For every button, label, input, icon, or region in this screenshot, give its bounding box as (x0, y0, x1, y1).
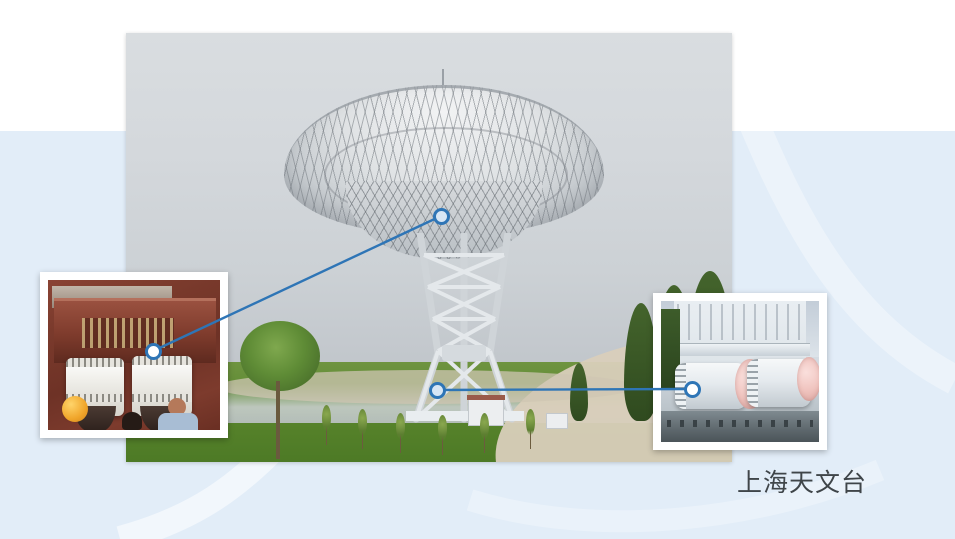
photo-equipment-shed (546, 413, 568, 429)
inset-left-drive-1-bolt-ring (66, 358, 124, 367)
photo-sapling-4 (438, 415, 447, 441)
inset-right-structure-ribs (677, 304, 803, 341)
inset-photo-left-maintenance[interactable] (40, 272, 228, 438)
caption-observatory-name: 上海天文台 (737, 468, 867, 498)
inset-right-flange-2 (797, 357, 819, 401)
photo-sapling-6 (526, 409, 535, 435)
photo-sapling-5 (480, 413, 489, 439)
inset-left-worker (158, 398, 198, 430)
slide-canvas: 上海天文台 (0, 0, 955, 539)
inset-left-orange-helmet (62, 396, 88, 422)
inset-left-worker-head-dark (122, 412, 142, 430)
inset-left-worker-body (158, 413, 198, 430)
telescope-dish (284, 85, 604, 255)
inset-right-drive-2-bolt-ring (747, 359, 758, 407)
photo-sapling-3 (396, 413, 405, 439)
inset-left-gear-rack (82, 318, 174, 348)
inset-left-body (48, 280, 220, 430)
inset-right-base-bolts (667, 420, 812, 427)
inset-left-drive-2-bolt-ring (132, 356, 192, 365)
photo-sapling-1 (322, 405, 331, 431)
inset-right-drive-1-bolt-ring (675, 363, 686, 409)
inset-photo-right-installed[interactable] (653, 293, 827, 450)
inset-right-rail (670, 343, 809, 355)
telescope-mount-structure (394, 233, 534, 423)
photo-foreground-tree-trunk (276, 381, 280, 459)
photo-foreground-tree (240, 321, 320, 391)
building-roof (467, 395, 505, 400)
photo-sapling-2 (358, 409, 367, 435)
inset-right-body (661, 301, 819, 442)
